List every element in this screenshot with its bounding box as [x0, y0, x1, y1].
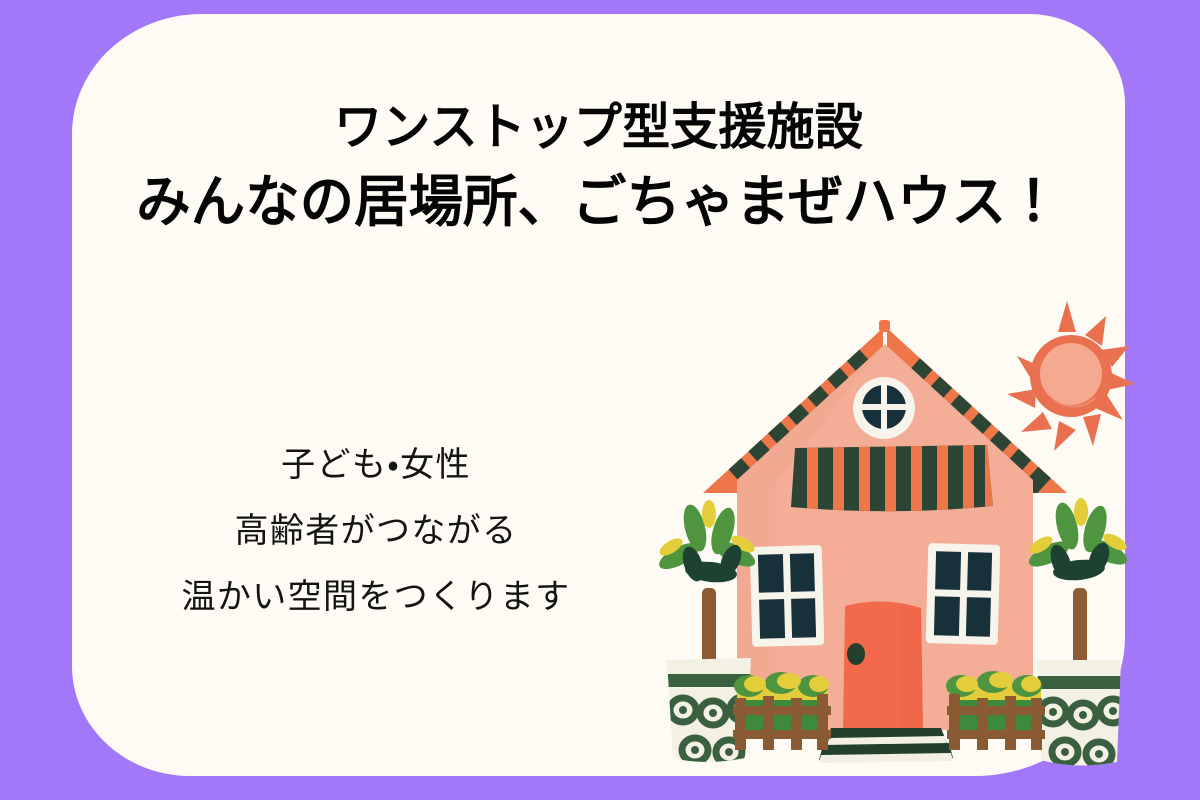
body-copy-line-3: 温かい空間をつくります — [96, 564, 656, 630]
body-copy-line-1: 子ども・女性 — [96, 432, 656, 498]
body-copy-block: 子ども・女性 高齢者がつながる 温かい空間をつくります — [96, 432, 656, 630]
right-window — [926, 543, 1001, 645]
left-hedge-fence — [733, 672, 831, 750]
front-door — [843, 601, 923, 732]
house-illustration — [655, 288, 1135, 788]
headline-block: ワンストップ型支援施設 みんなの居場所、ごちゃまぜハウス！ — [72, 96, 1125, 240]
headline-line-1: ワンストップ型支援施設 — [93, 96, 1104, 158]
house-illustration-svg — [655, 288, 1135, 788]
front-steps — [819, 728, 953, 763]
poster-canvas: ワンストップ型支援施設 みんなの居場所、ごちゃまぜハウス！ 子ども・女性 高齢者… — [0, 0, 1200, 800]
door-knob — [847, 643, 865, 665]
left-window — [750, 545, 825, 647]
headline-line-2: みんなの居場所、ごちゃまぜハウス！ — [88, 164, 1109, 240]
sun-icon — [1007, 301, 1135, 451]
gable-round-window — [853, 377, 915, 439]
right-hedge-fence — [946, 671, 1045, 750]
body-copy-line-2: 高齢者がつながる — [96, 498, 656, 564]
sun-core — [1040, 343, 1102, 405]
